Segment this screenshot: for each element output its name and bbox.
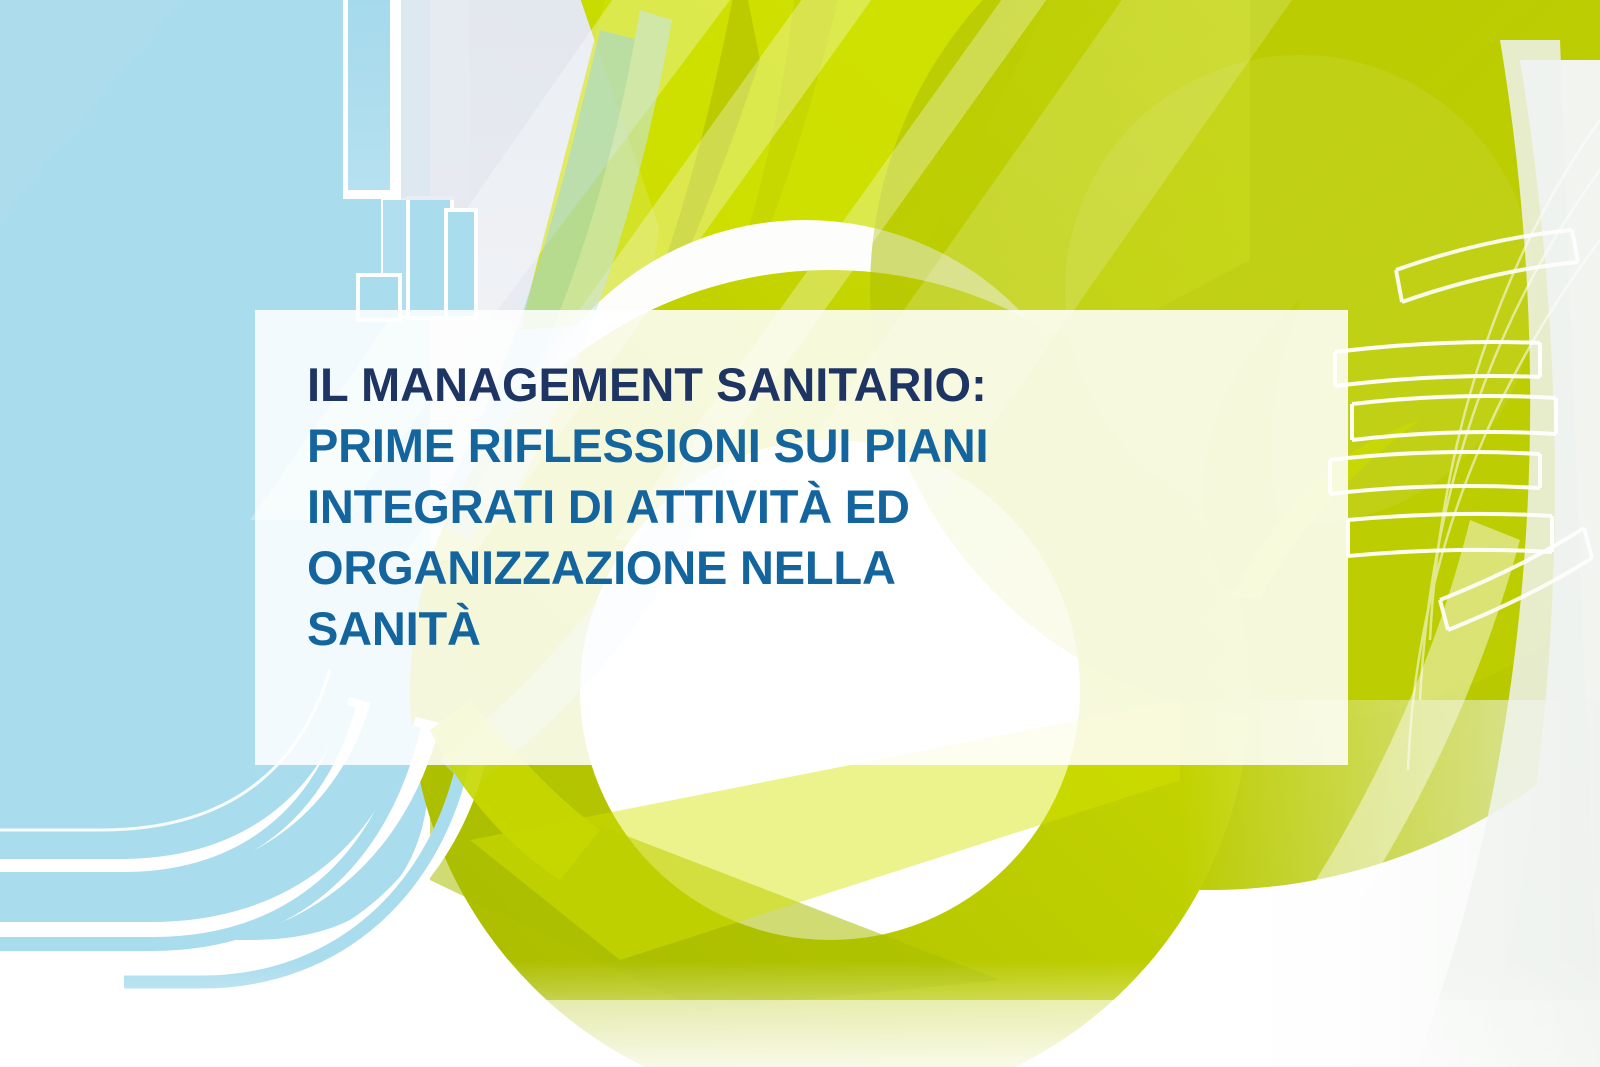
title-line-2: PRIME RIFLESSIONI SUI PIANI bbox=[307, 415, 1292, 476]
title-line-1: IL MANAGEMENT SANITARIO: bbox=[307, 354, 1292, 415]
blue-vertical-bars bbox=[345, 0, 476, 320]
title-line-3: INTEGRATI DI ATTIVITÀ ED bbox=[307, 476, 1292, 537]
page-title: IL MANAGEMENT SANITARIO: PRIME RIFLESSIO… bbox=[307, 354, 1292, 659]
title-line-5: SANITÀ bbox=[307, 598, 1292, 659]
title-line-4: ORGANIZZAZIONE NELLA bbox=[307, 537, 1292, 598]
cover-page: IL MANAGEMENT SANITARIO: PRIME RIFLESSIO… bbox=[0, 0, 1600, 1067]
title-panel: IL MANAGEMENT SANITARIO: PRIME RIFLESSIO… bbox=[255, 310, 1348, 765]
